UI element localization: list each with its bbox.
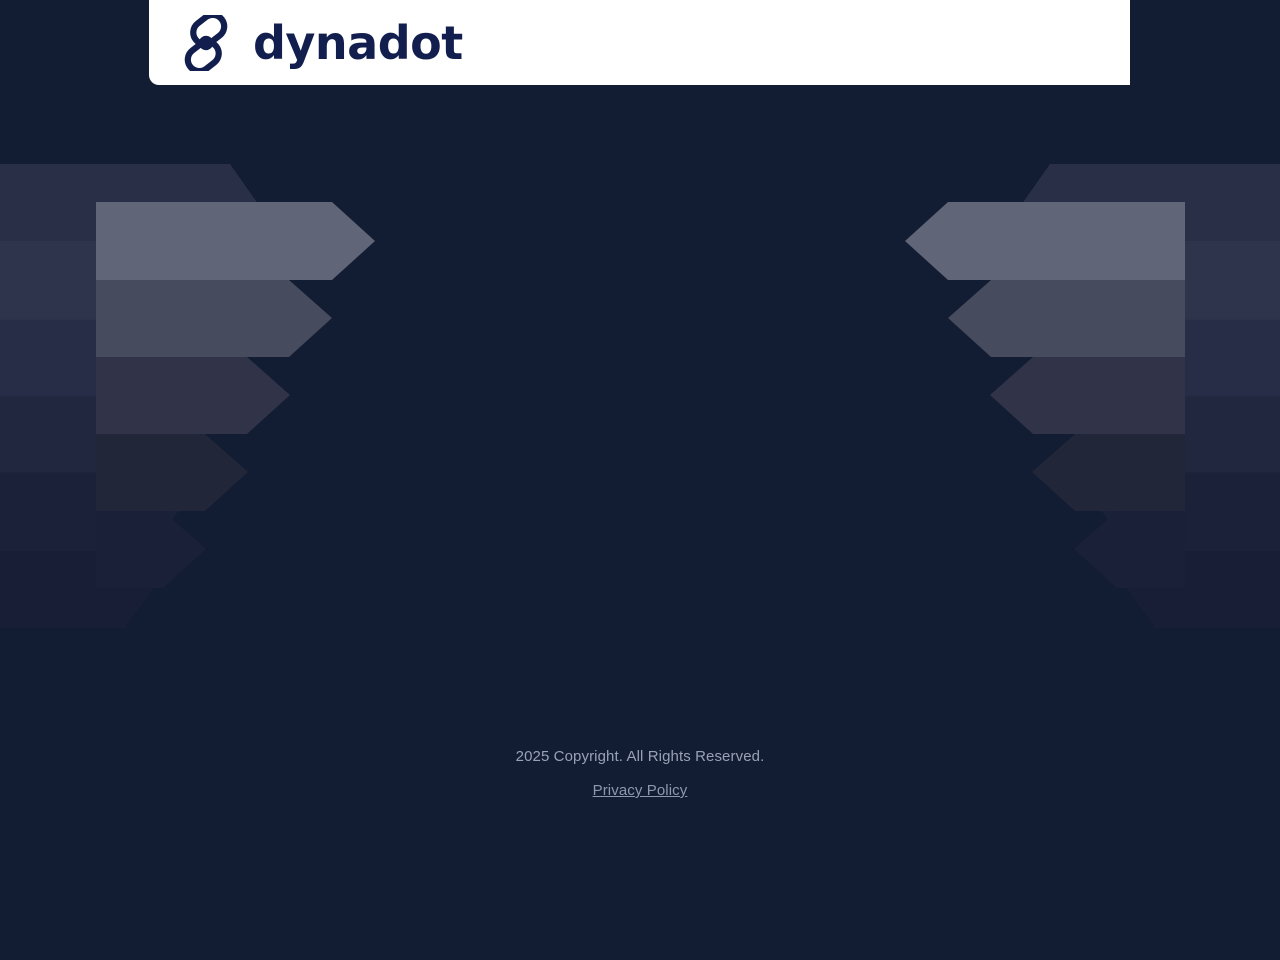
ghost-chevron-left-2 [0,241,255,397]
chevron-left-band-1 [96,202,375,280]
chevron-right-band-2 [948,280,1185,357]
site-header: dynadot [149,0,1130,85]
privacy-policy-link[interactable]: Privacy Policy [593,782,688,799]
ghost-chevron-layer [0,164,1280,628]
chevron-right-band-5 [1074,511,1185,588]
ghost-chevron-left-4 [0,395,205,551]
chevron-right-band-3 [990,357,1185,434]
background-decoration [0,0,1280,960]
ghost-chevron-right-4 [1075,395,1280,551]
ghost-chevron-left-1 [0,164,285,320]
ghost-chevron-right-5 [1100,472,1280,628]
chevron-left-band-2 [96,280,332,357]
privacy-policy-row: Privacy Policy [0,776,1280,806]
brand-logo[interactable]: dynadot [175,15,463,71]
ghost-chevron-right-3 [1050,318,1280,474]
brand-wordmark: dynadot [253,20,463,66]
ghost-chevron-right-2 [1025,241,1280,397]
ghost-chevron-right-1 [995,164,1280,320]
chain-link-icon [175,15,237,71]
site-footer: 2025 Copyright. All Rights Reserved. Pri… [0,742,1280,806]
copyright-text: 2025 Copyright. All Rights Reserved. [0,742,1280,772]
chevron-left-band-5 [96,511,206,588]
chevron-right-band-4 [1032,434,1185,511]
ghost-chevron-left-5 [0,472,180,628]
main-chevron-layer [96,202,1185,588]
chevron-left-band-3 [96,357,290,434]
chevron-left-band-4 [96,434,248,511]
chevron-right-band-1 [905,202,1185,280]
ghost-chevron-left-3 [0,318,230,474]
